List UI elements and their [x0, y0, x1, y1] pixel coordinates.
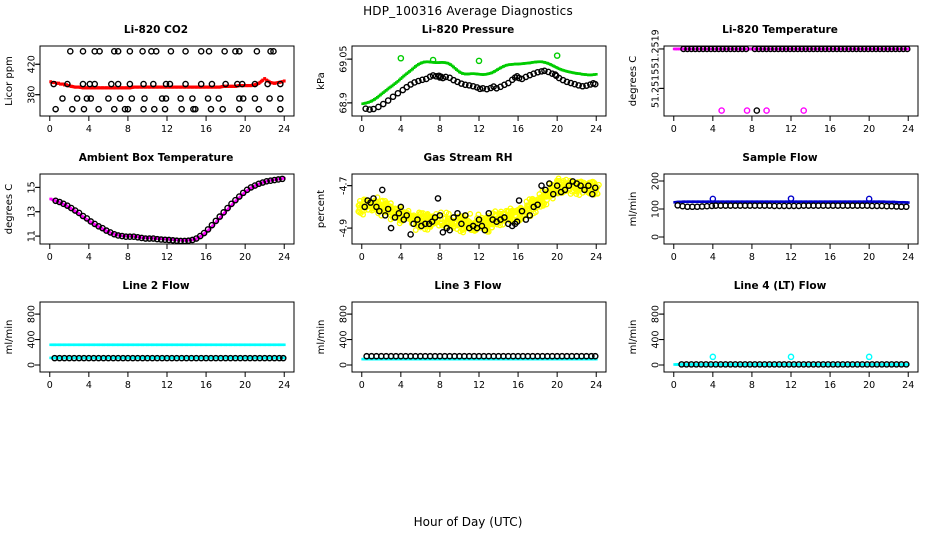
x-tick-label: 24	[590, 380, 602, 391]
panel-line-4-lt-flow: Line 4 (LT) Flow048121620240400800ml/min	[624, 280, 936, 408]
data-point	[267, 96, 272, 101]
series-max	[49, 343, 285, 346]
x-tick-label: 12	[161, 380, 173, 391]
x-tick-label: 16	[200, 380, 212, 391]
x-tick-label: 24	[902, 124, 914, 135]
x-tick-label: 24	[278, 380, 290, 391]
panel-li820-pressure: Li-820 Pressure0481216202468.969.05kPa	[312, 24, 624, 152]
data-point	[388, 225, 393, 230]
x-tick-label: 16	[512, 380, 524, 391]
data-point	[206, 49, 211, 54]
data-point	[595, 73, 598, 76]
panel-li820-co2: Li-820 CO204812162024380420Licor ppm	[0, 24, 312, 152]
x-tick-label: 20	[239, 124, 251, 135]
x-tick-label: 12	[785, 380, 797, 391]
data-point	[80, 49, 85, 54]
data-point	[710, 354, 715, 359]
plot-area: 048121620240400800ml/min	[312, 280, 624, 408]
x-tick-label: 12	[473, 124, 485, 135]
x-tick-label: 8	[437, 380, 443, 391]
data-point	[216, 96, 221, 101]
x-tick-label: 8	[437, 124, 443, 135]
data-point	[254, 49, 259, 54]
data-point	[408, 232, 413, 237]
data-point	[81, 107, 86, 112]
y-tick-label: 0	[651, 234, 662, 240]
plot-frame	[352, 46, 606, 116]
series-average	[364, 354, 598, 359]
y-tick-label: 51.2519	[651, 29, 662, 68]
y-tick-label: 800	[27, 305, 38, 323]
x-tick-label: 4	[398, 252, 404, 263]
x-tick-label: 16	[200, 124, 212, 135]
data-point	[162, 107, 167, 112]
x-tick-label: 0	[47, 252, 53, 263]
x-tick-label: 8	[125, 124, 131, 135]
y-tick-label: 400	[27, 330, 38, 348]
plot-area: 048121620240400800ml/min	[624, 280, 936, 408]
x-tick-label: 12	[785, 124, 797, 135]
y-tick-label: 51.2515	[651, 69, 662, 108]
x-tick-label: 16	[512, 252, 524, 263]
x-tick-label: 0	[671, 124, 677, 135]
series-min-max	[53, 176, 285, 243]
y-tick-label: 13	[27, 206, 38, 218]
x-tick-label: 8	[749, 380, 755, 391]
y-tick-label: -4.9	[339, 219, 350, 238]
x-tick-label: 0	[47, 124, 53, 135]
data-point	[140, 49, 145, 54]
y-axis-title: ml/min	[4, 320, 15, 355]
data-point	[178, 96, 183, 101]
data-point	[283, 343, 286, 346]
x-tick-label: 12	[473, 252, 485, 263]
data-series-group	[49, 343, 286, 360]
y-tick-label: 0	[651, 362, 662, 368]
x-tick-label: 8	[749, 124, 755, 135]
plot-area: 0481216202468.969.05kPa	[312, 24, 624, 152]
x-tick-label: 0	[359, 380, 365, 391]
panel-sample-flow: Sample Flow048121620240100200ml/min	[624, 152, 936, 280]
data-point	[141, 107, 146, 112]
x-tick-label: 4	[398, 380, 404, 391]
y-tick-label: 11	[27, 230, 38, 242]
x-tick-label: 8	[749, 252, 755, 263]
data-point	[60, 96, 65, 101]
data-point	[205, 96, 210, 101]
data-point	[476, 58, 481, 63]
data-series-group	[361, 53, 598, 112]
panel-gas-stream-rh: Gas Stream RH04812162024-4.9-4.7percent	[312, 152, 624, 280]
series-min-outliers-low	[53, 107, 283, 112]
x-tick-label: 8	[437, 252, 443, 263]
data-point	[70, 107, 75, 112]
series-average	[49, 357, 285, 360]
x-tick-label: 20	[863, 380, 875, 391]
series-low-outliers-magenta	[719, 108, 806, 113]
x-tick-label: 24	[278, 124, 290, 135]
panel-ambient-box-temperature: Ambient Box Temperature04812162024111315…	[0, 152, 312, 280]
data-series-group	[49, 176, 285, 243]
x-tick-label: 0	[671, 252, 677, 263]
data-series-group	[673, 46, 910, 113]
data-point	[190, 96, 195, 101]
x-tick-label: 12	[785, 252, 797, 263]
x-tick-label: 4	[86, 380, 92, 391]
data-point	[222, 49, 227, 54]
x-tick-label: 12	[161, 252, 173, 263]
x-tick-label: 16	[200, 252, 212, 263]
x-tick-label: 4	[86, 252, 92, 263]
data-point	[152, 107, 157, 112]
data-point	[395, 91, 400, 96]
series-low-outlier-black	[754, 108, 759, 113]
y-tick-label: -4.7	[339, 176, 350, 195]
plot-frame	[40, 302, 294, 372]
y-axis-title: ml/min	[316, 320, 327, 355]
y-tick-label: 400	[651, 330, 662, 348]
x-tick-label: 24	[590, 124, 602, 135]
x-tick-label: 20	[239, 380, 251, 391]
data-point	[179, 107, 184, 112]
y-axis-title: ml/min	[628, 192, 639, 227]
x-tick-label: 0	[359, 252, 365, 263]
plot-frame	[352, 302, 606, 372]
series-max-outliers-high	[68, 49, 276, 54]
y-tick-label: 69.05	[339, 46, 350, 73]
series-max-spikes	[710, 354, 872, 359]
data-point	[555, 53, 560, 58]
y-axis-title: ml/min	[628, 320, 639, 355]
data-point	[127, 49, 132, 54]
data-point	[109, 81, 114, 86]
y-tick-label: 68.9	[339, 92, 350, 113]
x-tick-label: 20	[863, 124, 875, 135]
y-tick-label: 0	[339, 362, 350, 368]
data-point	[168, 49, 173, 54]
x-tick-label: 24	[590, 252, 602, 263]
data-point	[199, 49, 204, 54]
y-tick-label: 100	[651, 200, 662, 218]
data-point	[278, 107, 283, 112]
x-tick-label: 24	[278, 252, 290, 263]
x-tick-label: 4	[710, 380, 716, 391]
data-series-group	[361, 354, 598, 361]
data-point	[127, 81, 132, 86]
data-series-group	[673, 354, 909, 367]
data-point	[252, 96, 257, 101]
data-point	[744, 108, 749, 113]
y-axis-title: percent	[316, 190, 327, 228]
data-point	[788, 354, 793, 359]
plot-area: 048121620240400800ml/min	[0, 280, 312, 408]
data-point	[386, 98, 391, 103]
data-point	[801, 108, 806, 113]
data-point	[75, 96, 80, 101]
panel-line-3-flow: Line 3 Flow048121620240400800ml/min	[312, 280, 624, 408]
data-point	[398, 56, 403, 61]
panel-line-2-flow: Line 2 Flow048121620240400800ml/min	[0, 280, 312, 408]
data-point	[719, 108, 724, 113]
data-point	[867, 354, 872, 359]
plot-area: 04812162024-4.9-4.7percent	[312, 152, 624, 280]
data-point	[380, 187, 385, 192]
series-min	[675, 203, 909, 210]
plot-area: 04812162024111315degrees C	[0, 152, 312, 280]
plot-frame	[664, 46, 918, 116]
x-tick-label: 4	[86, 124, 92, 135]
x-tick-label: 16	[824, 252, 836, 263]
x-tick-label: 12	[161, 124, 173, 135]
data-point	[208, 107, 213, 112]
y-tick-label: 800	[651, 305, 662, 323]
y-tick-label: 200	[651, 172, 662, 190]
y-axis-title: degrees C	[4, 184, 15, 234]
data-point	[106, 96, 111, 101]
data-point	[256, 107, 261, 112]
y-tick-label: 800	[339, 305, 350, 323]
y-tick-label: 420	[27, 55, 38, 73]
x-tick-label: 20	[551, 124, 563, 135]
data-point	[142, 96, 147, 101]
data-series-group	[49, 49, 285, 112]
x-tick-label: 8	[125, 252, 131, 263]
x-tick-label: 16	[824, 124, 836, 135]
plot-area: 0481216202451.251551.2519degrees C	[624, 24, 936, 152]
data-point	[435, 196, 440, 201]
x-tick-label: 8	[125, 380, 131, 391]
data-point	[80, 81, 85, 86]
data-series-group	[356, 176, 601, 237]
x-tick-label: 4	[398, 124, 404, 135]
data-point	[96, 107, 101, 112]
y-tick-label: 400	[339, 330, 350, 348]
plot-area: 048121620240100200ml/min	[624, 152, 936, 280]
data-point	[116, 81, 121, 86]
y-tick-label: 0	[27, 362, 38, 368]
x-tick-label: 20	[551, 380, 563, 391]
y-tick-label: 380	[27, 86, 38, 104]
x-tick-label: 12	[473, 380, 485, 391]
series-min-mid	[60, 96, 283, 101]
x-tick-label: 0	[671, 380, 677, 391]
data-point	[516, 198, 521, 203]
data-point	[118, 96, 123, 101]
data-point	[381, 101, 386, 106]
data-point	[283, 79, 286, 82]
data-point	[390, 94, 395, 99]
figure-title: HDP_100316 Average Diagnostics	[0, 4, 936, 18]
x-tick-label: 16	[512, 124, 524, 135]
x-tick-label: 16	[824, 380, 836, 391]
x-tick-label: 4	[710, 252, 716, 263]
x-tick-label: 20	[239, 252, 251, 263]
panel-li820-temperature: Li-820 Temperature0481216202451.251551.2…	[624, 24, 936, 152]
x-tick-label: 24	[902, 252, 914, 263]
series-average	[49, 177, 285, 242]
x-tick-label: 0	[47, 380, 53, 391]
y-axis-title: degrees C	[628, 56, 639, 106]
x-tick-label: 0	[359, 124, 365, 135]
data-point	[413, 228, 418, 233]
data-point	[754, 108, 759, 113]
data-point	[764, 108, 769, 113]
data-point	[112, 107, 117, 112]
data-point	[220, 107, 225, 112]
y-tick-label: 15	[27, 181, 38, 193]
data-point	[183, 49, 188, 54]
y-axis-title: kPa	[316, 72, 327, 90]
y-axis-title: Licor ppm	[4, 56, 15, 106]
x-tick-label: 20	[863, 252, 875, 263]
data-point	[129, 96, 134, 101]
plot-area: 04812162024380420Licor ppm	[0, 24, 312, 152]
x-tick-label: 4	[710, 124, 716, 135]
data-series-group	[673, 196, 909, 209]
x-axis-title: Hour of Day (UTC)	[0, 515, 936, 529]
data-point	[68, 49, 73, 54]
x-tick-label: 20	[551, 252, 563, 263]
data-point	[237, 107, 242, 112]
data-point	[907, 201, 910, 204]
x-tick-label: 24	[902, 380, 914, 391]
data-point	[53, 107, 58, 112]
data-point	[278, 96, 283, 101]
